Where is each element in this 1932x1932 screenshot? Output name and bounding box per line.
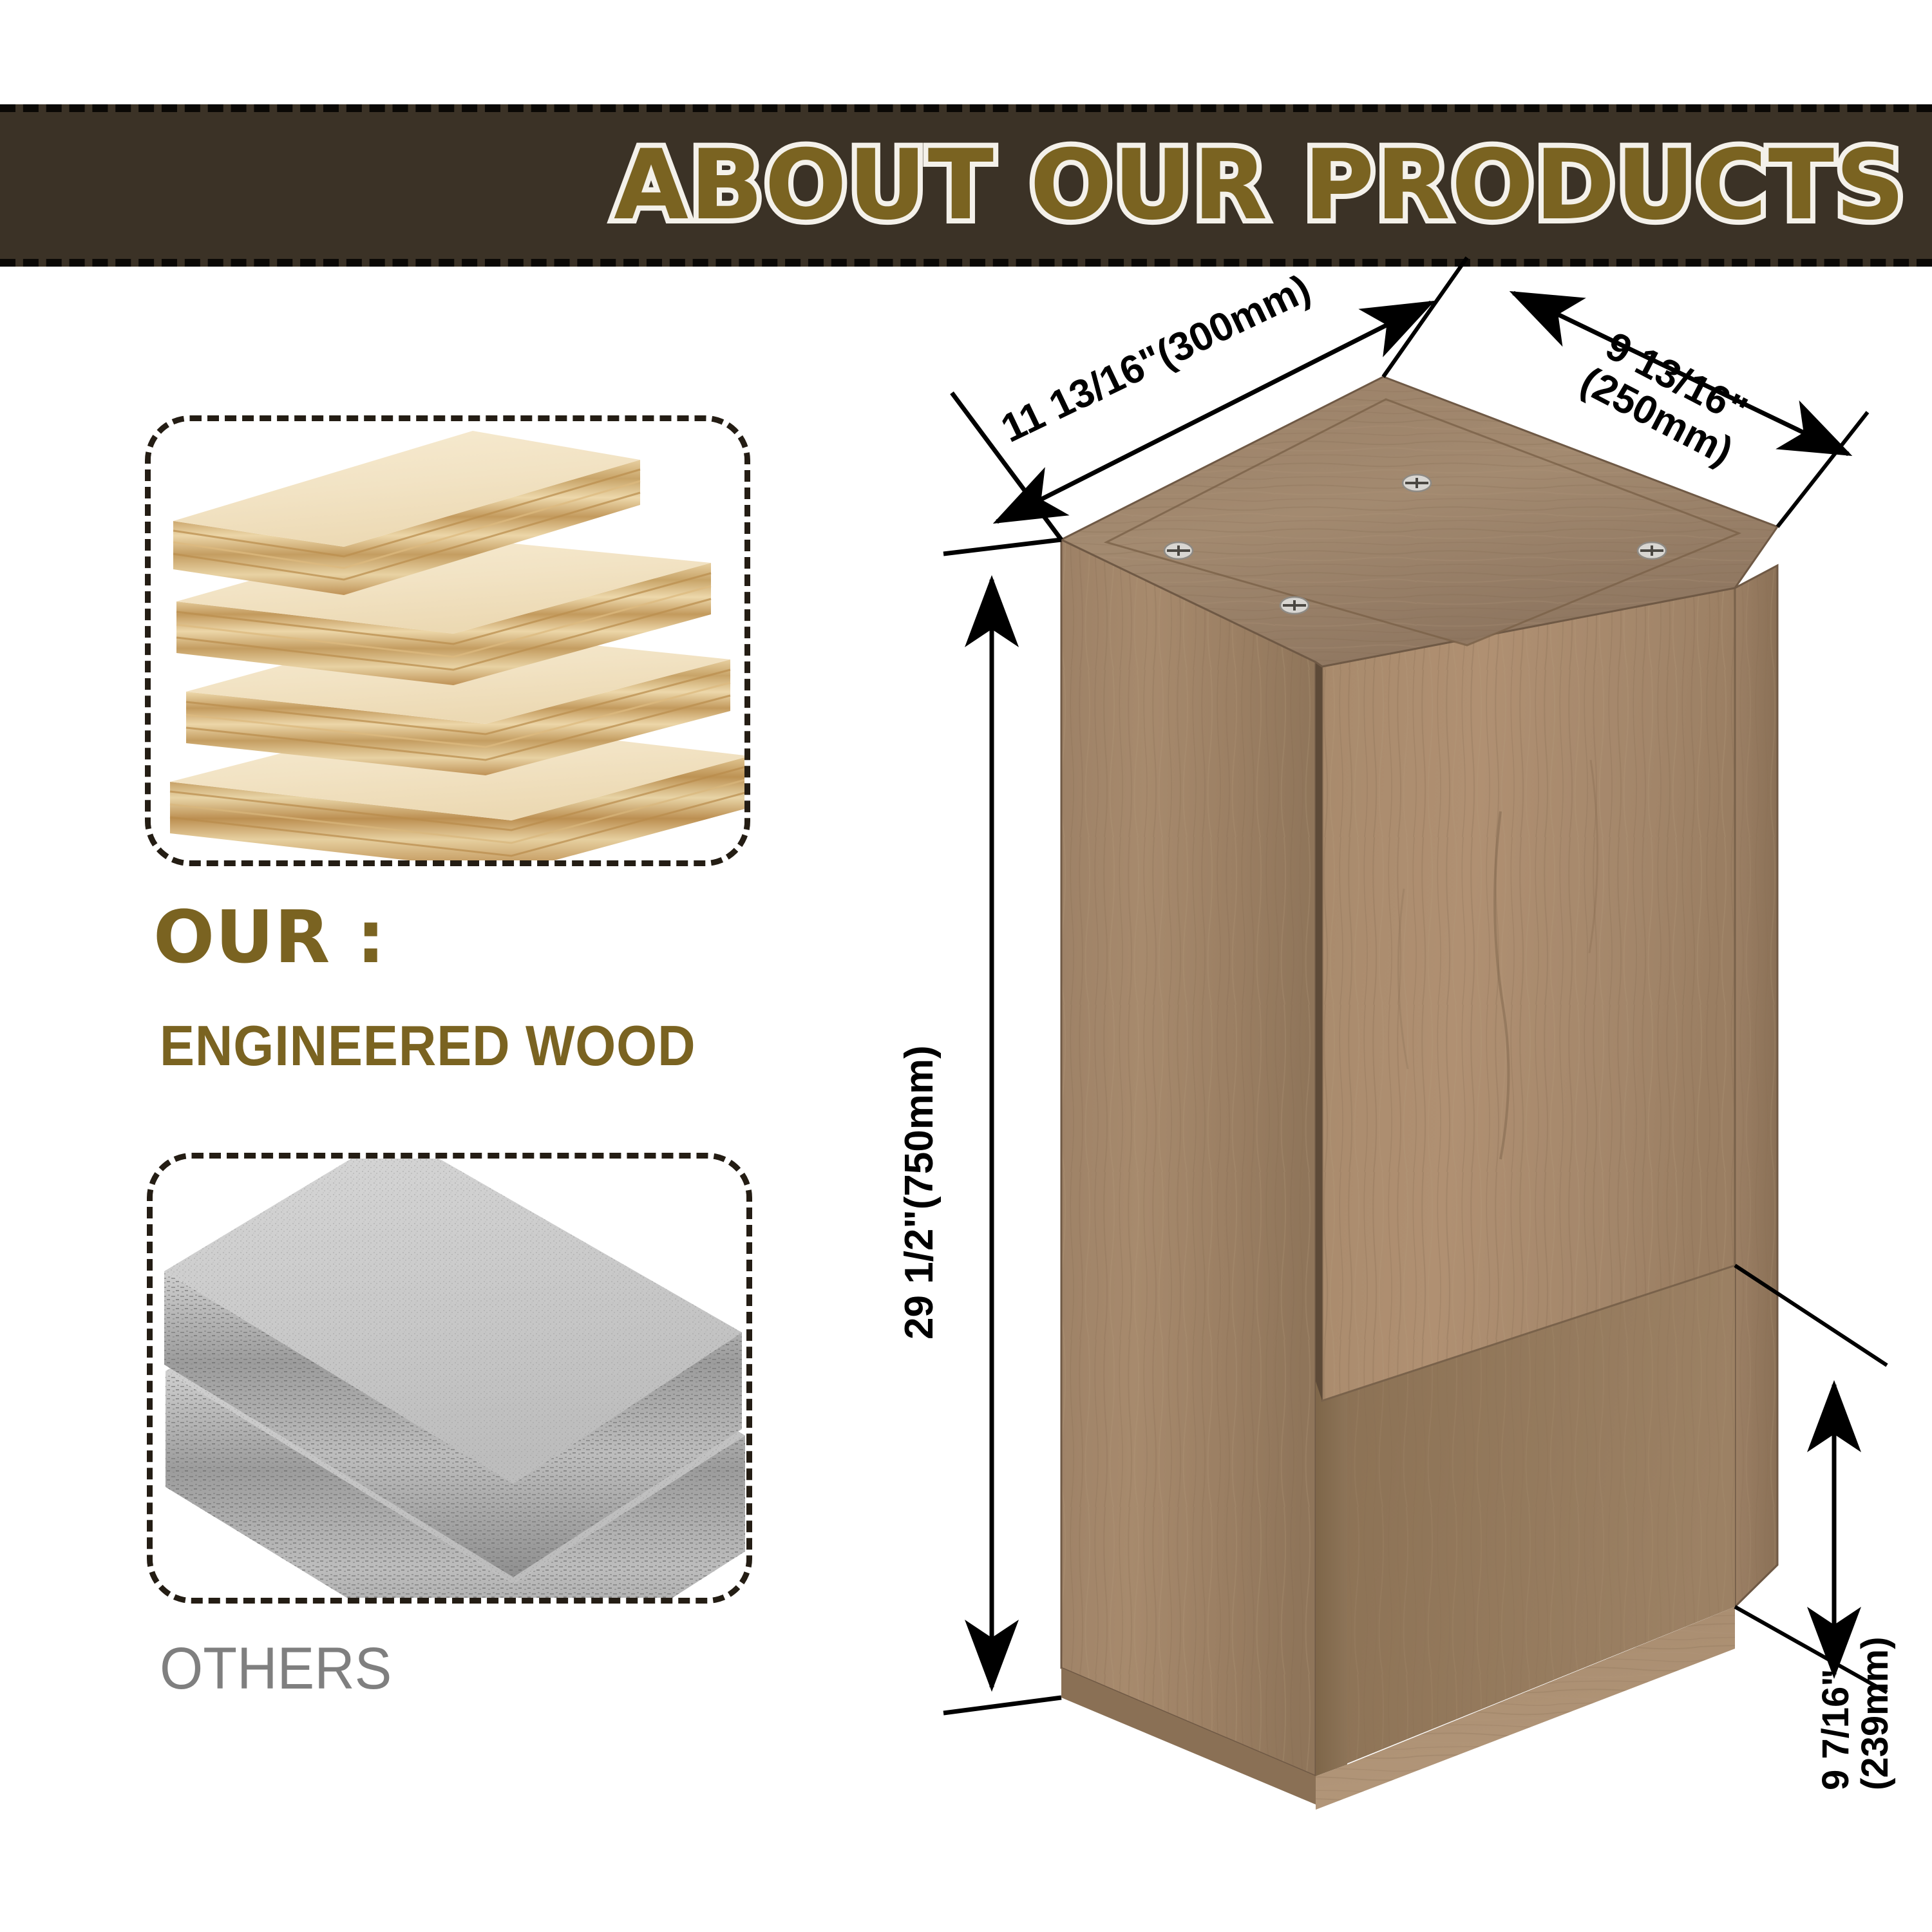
particleboard-stack-photo <box>153 1159 746 1598</box>
screw-icon <box>1403 475 1431 491</box>
dimension-label-open-shelf: 9 7/16"(239mm) <box>1816 1636 1895 1790</box>
plywood-photo-frame <box>145 415 750 866</box>
particleboard-photo-frame <box>147 1153 752 1604</box>
our-material-label: ENGINEERED WOOD <box>160 1018 696 1074</box>
others-label: OTHERS <box>160 1639 392 1698</box>
dimension-label-width: 11 13/16"(300mm) <box>995 267 1317 450</box>
dimension-label-height: 29 1/2"(750mm) <box>898 1045 941 1340</box>
cabinet-open-compartment <box>1316 1265 1735 1810</box>
header-dash-top <box>0 104 1932 112</box>
cabinet-door-panel <box>1322 588 1735 1401</box>
header-dash-bottom <box>0 259 1932 267</box>
page-title: ABOUT OUR PRODUCTS <box>614 137 1906 234</box>
screw-icon <box>1164 542 1193 559</box>
top-panel-screws <box>1164 475 1666 614</box>
cabinet-right-side-panel <box>1735 565 1777 1607</box>
our-label: OUR : <box>153 902 386 974</box>
screw-icon <box>1638 542 1666 559</box>
cabinet-bottom-front-edge <box>1061 1668 1316 1804</box>
infographic-canvas: ABOUT OUR PRODUCTS <box>0 0 1932 1932</box>
dimension-lines <box>943 258 1887 1713</box>
screw-icon <box>1280 597 1309 614</box>
dimension-label-depth: 9 13/16"(250mm) <box>1574 322 1759 473</box>
header-banner: ABOUT OUR PRODUCTS <box>0 104 1932 267</box>
plywood-stack-photo <box>151 421 744 860</box>
cabinet-left-side-panel <box>1061 540 1316 1776</box>
